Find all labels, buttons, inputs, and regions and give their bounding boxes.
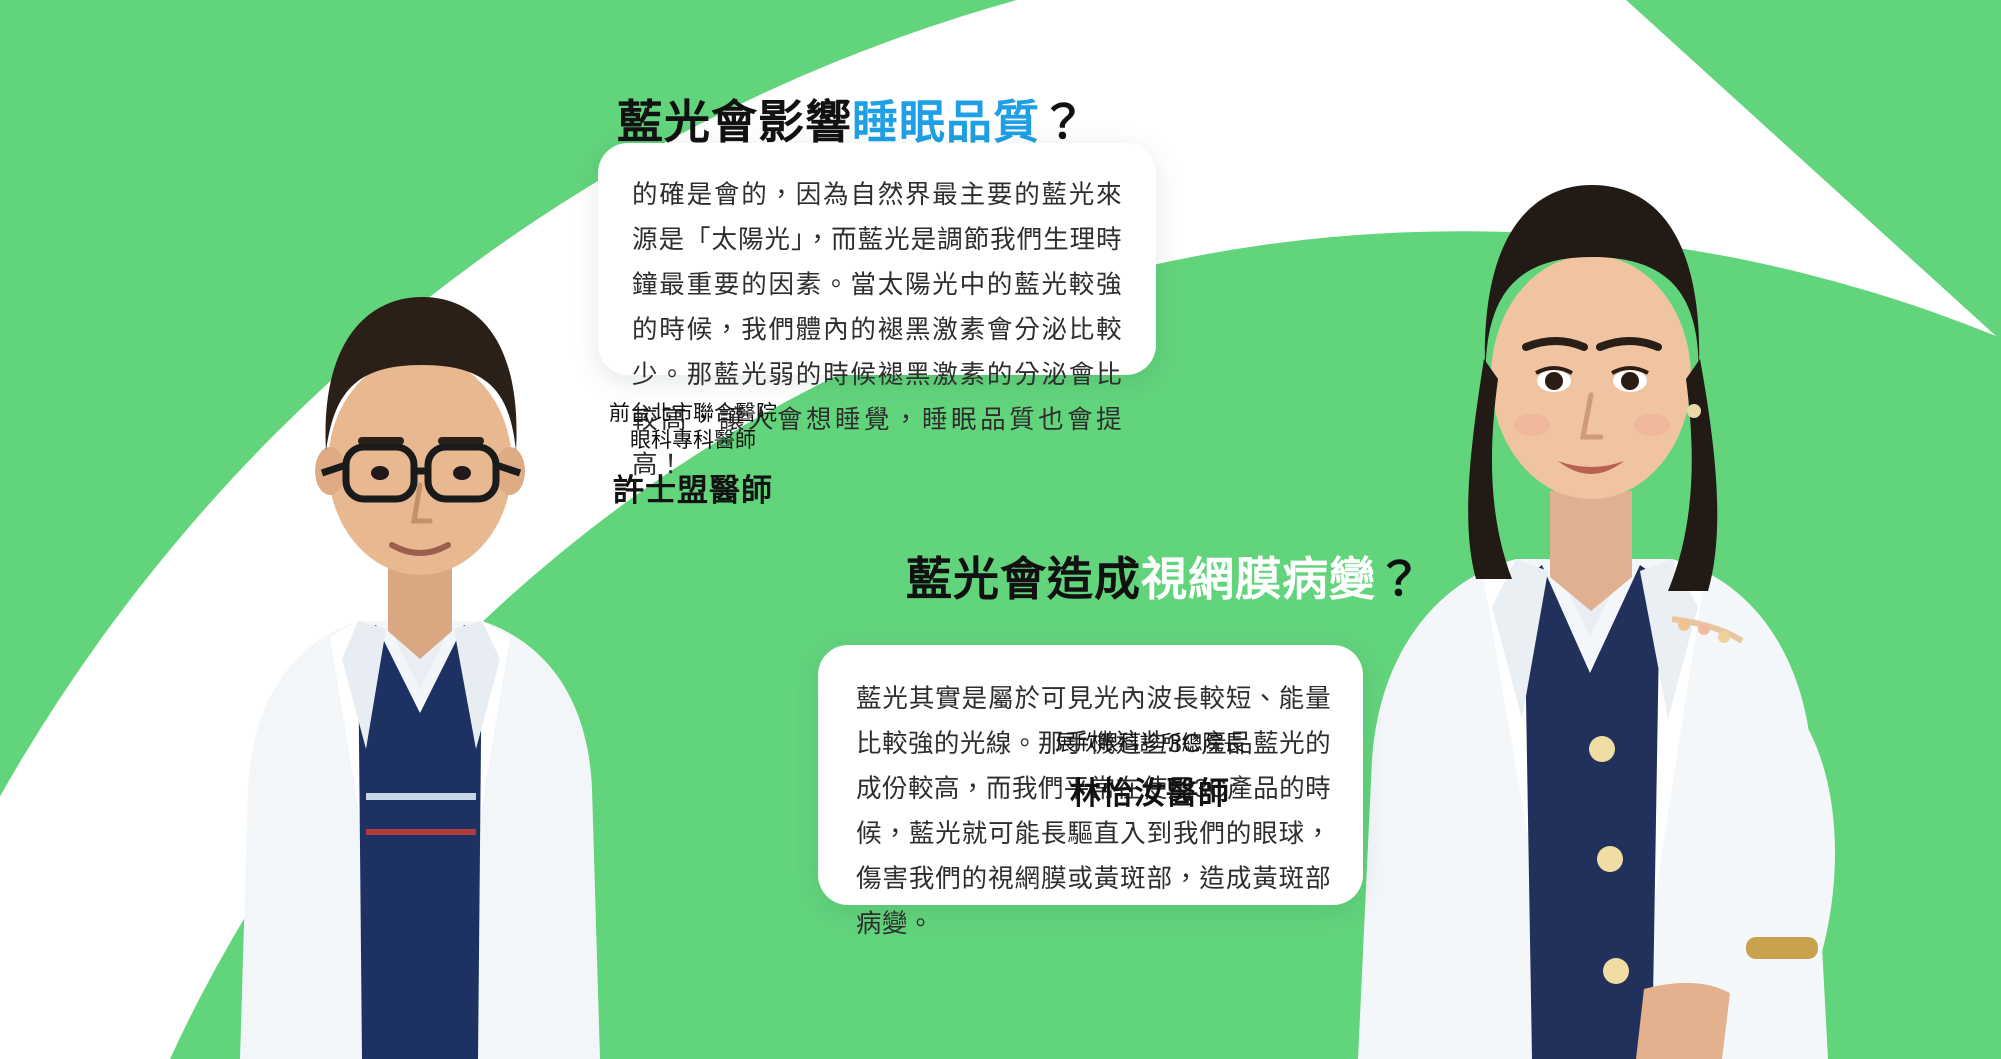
heading-1-lead: 藍光會影響 [617,96,852,148]
question-heading-2: 藍光會造成視網膜病變？ [906,543,1423,609]
heading-1-highlight: 睡眠品質 [852,96,1040,148]
answer-bubble-1: 的確是會的，因為自然界最主要的藍光來源是「太陽光」，而藍光是調節我們生理時鐘最重… [598,143,1156,375]
doctor-credit-1: 前台北市聯合醫院 眼科專科醫師 許士盟醫師 [553,400,833,510]
promo-banner: 藍光會影響睡眠品質？ 的確是會的，因為自然界最主要的藍光來源是「太陽光」，而藍光… [0,0,2001,1059]
photo-doctor-left [190,189,650,1059]
doctor-credit-2: 展欣眼科診所總院長 林怡汝醫師 [1000,730,1300,813]
doctor-2-org: 展欣眼科診所總院長 [1000,730,1300,757]
doctor-1-org: 前台北市聯合醫院 眼科專科醫師 [553,400,833,454]
heading-1-mark: ？ [1040,96,1087,148]
heading-2-highlight: 視網膜病變 [1141,553,1376,605]
heading-2-mark: ？ [1376,553,1423,605]
doctor-1-name: 許士盟醫師 [553,465,833,510]
heading-2-lead: 藍光會造成 [906,553,1141,605]
doctor-2-name: 林怡汝醫師 [1000,768,1300,813]
